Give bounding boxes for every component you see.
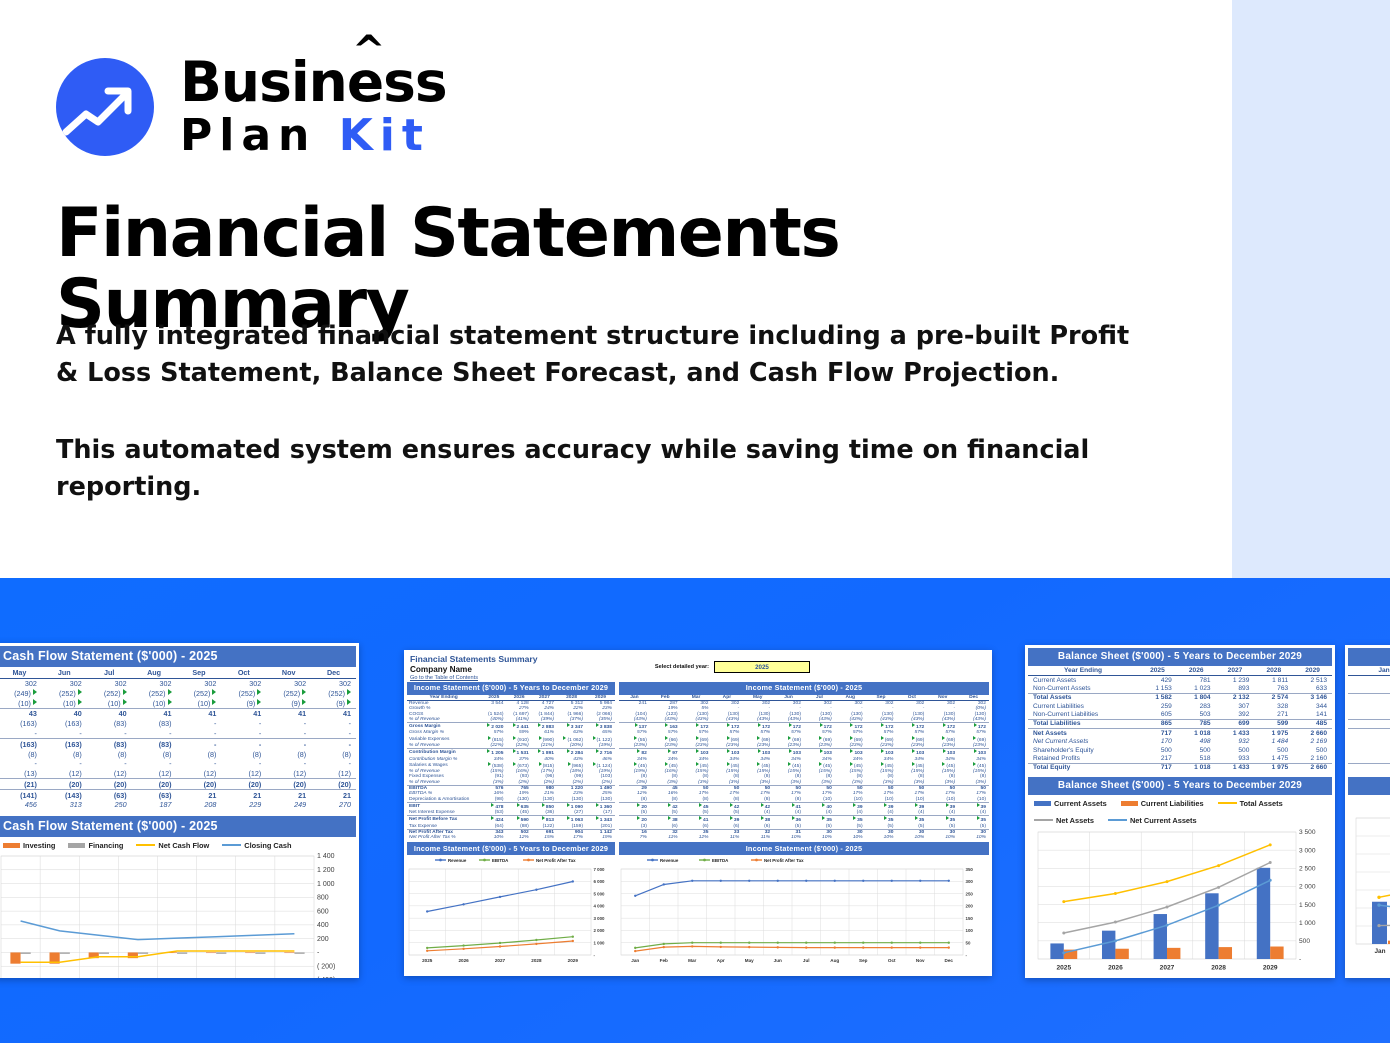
table-cell[interactable]: 10% — [958, 835, 989, 840]
table-cell[interactable]: 39 — [927, 802, 958, 810]
table-cell[interactable]: 512 — [1348, 763, 1390, 772]
table-row[interactable]: (163)(163)(83)(83)---- — [0, 719, 356, 729]
table-cell[interactable]: 500 — [1348, 746, 1390, 754]
table-cell[interactable]: (83) — [87, 739, 132, 749]
table-row[interactable]: 1 081 — [1348, 738, 1390, 746]
table-cell[interactable]: 2 132 — [1216, 693, 1255, 702]
table-cell[interactable]: 97 — [650, 749, 681, 757]
table-cell[interactable]: (20) — [266, 779, 311, 790]
table-cell[interactable]: (20) — [311, 779, 356, 790]
table-row[interactable]: Shareholder's Equity500500500500500 — [1028, 746, 1332, 754]
table-cell[interactable]: 1 023 — [1177, 684, 1216, 693]
table-cell[interactable]: 344 — [1293, 702, 1332, 710]
table-cell[interactable]: 82 — [619, 749, 650, 757]
table-cell[interactable]: (1 124) — [586, 762, 615, 769]
table-cell[interactable]: 599 — [1254, 719, 1293, 728]
table-row[interactable]: (10)(10)(10)(10)(10)(9)(9)(9) — [0, 698, 356, 708]
table-cell[interactable]: - — [42, 729, 87, 739]
table-cell[interactable]: (63) — [132, 790, 177, 800]
table-cell[interactable]: 35 — [866, 816, 897, 824]
table-cell[interactable]: - — [266, 729, 311, 739]
table-cell[interactable]: 20 — [619, 802, 650, 810]
table-cell[interactable]: 283 — [1177, 702, 1216, 710]
table-cell[interactable]: (45) — [866, 762, 897, 769]
table-cell[interactable]: - — [221, 729, 266, 739]
table-cell[interactable]: 141 — [1293, 710, 1332, 719]
table-cell[interactable]: 103 — [804, 749, 835, 757]
table-cell[interactable]: - — [221, 759, 266, 769]
table-cell[interactable]: (538) — [481, 762, 506, 769]
table-cell[interactable]: 21 — [177, 790, 222, 800]
table-cell[interactable]: 217 — [1138, 754, 1177, 763]
table-cell[interactable]: - — [311, 739, 356, 749]
table-cell[interactable]: (9) — [311, 698, 356, 708]
table-cell[interactable]: (8) — [177, 749, 222, 759]
table-cell[interactable]: 1 804 — [1177, 693, 1216, 702]
table-cell[interactable]: (815) — [481, 736, 506, 743]
table-cell[interactable]: (8) — [311, 749, 356, 759]
table-cell[interactable]: 103 — [835, 749, 866, 757]
income-statement-monthly-table[interactable]: JanFebMarAprMayJunJulAugSepOctNovDec2412… — [619, 695, 989, 841]
table-cell[interactable]: 3 146 — [1293, 693, 1332, 702]
table-cell[interactable]: 10% — [773, 835, 804, 840]
table-cell[interactable]: - — [266, 719, 311, 729]
table-cell[interactable]: (45) — [742, 762, 773, 769]
table-cell[interactable]: (83) — [87, 719, 132, 729]
table-cell[interactable]: 302 — [311, 678, 356, 688]
table-row[interactable]: Non-Current Liabilities605503392271141 — [1028, 710, 1332, 719]
table-row[interactable]: 93 — [1348, 702, 1390, 710]
table-row[interactable]: Net Current Assets1704989321 4842 169 — [1028, 738, 1332, 746]
table-cell[interactable]: (163) — [42, 739, 87, 749]
table-cell[interactable]: 865 — [1138, 719, 1177, 728]
year-picker-input[interactable]: 2025 — [714, 661, 810, 673]
table-row[interactable]: 1 174 — [1348, 675, 1390, 684]
table-row[interactable]: 8297103103103103103103103103103103 — [619, 749, 989, 757]
table-cell[interactable]: (12) — [311, 769, 356, 779]
table-cell[interactable]: 500 — [1293, 746, 1332, 754]
table-row[interactable]: -------- — [0, 729, 356, 739]
table-cell[interactable]: 302 — [177, 678, 222, 688]
table-cell[interactable]: 2 574 — [1254, 693, 1293, 702]
table-cell[interactable]: (69) — [927, 736, 958, 743]
table-cell[interactable]: 12 — [1348, 754, 1390, 763]
table-cell[interactable]: 1 582 — [1138, 693, 1177, 702]
table-cell[interactable]: 302 — [266, 678, 311, 688]
table-cell[interactable]: 10% — [835, 835, 866, 840]
table-cell[interactable]: (69) — [773, 736, 804, 743]
table-cell[interactable]: (13) — [0, 769, 42, 779]
table-row[interactable]: Non-Current Assets1 1531 023893763633 — [1028, 684, 1332, 693]
table-cell[interactable]: (45) — [619, 762, 650, 769]
table-cell[interactable]: - — [87, 729, 132, 739]
table-row[interactable]: 204245424241403939393939 — [619, 802, 989, 810]
table-cell[interactable]: (8) — [42, 749, 87, 759]
table-cell[interactable]: (163) — [42, 719, 87, 729]
table-cell[interactable]: (10) — [87, 698, 132, 708]
table-cell[interactable]: 42 — [650, 802, 681, 810]
table-cell[interactable]: (83) — [132, 739, 177, 749]
table-row[interactable]: 786 — [1348, 719, 1390, 728]
table-cell[interactable]: (10) — [177, 698, 222, 708]
table-row[interactable]: 692 — [1348, 710, 1390, 719]
table-cell[interactable]: 41 — [221, 709, 266, 719]
table-cell[interactable]: 39 — [835, 802, 866, 810]
table-cell[interactable]: 302 — [0, 678, 42, 688]
table-row[interactable]: 12 — [1348, 754, 1390, 763]
table-cell[interactable]: 785 — [1177, 719, 1216, 728]
balance-sheet-monthly-panel[interactable]: Jan1 1741241 297936927865121 08150012512… — [1345, 645, 1390, 978]
table-cell[interactable]: (45) — [804, 762, 835, 769]
table-cell[interactable]: 456 — [0, 800, 42, 810]
table-cell[interactable]: 41 — [132, 709, 177, 719]
table-cell[interactable]: 1 018 — [1177, 763, 1216, 772]
table-of-contents-link[interactable]: Go to the Table of Contents — [410, 675, 986, 681]
table-row[interactable]: Net Profit Before Tax4245908131 0631 343 — [407, 816, 615, 824]
table-cell[interactable]: 1 063 — [557, 816, 586, 824]
table-cell[interactable]: (163) — [0, 739, 42, 749]
table-cell[interactable]: (252) — [311, 688, 356, 698]
table-cell[interactable]: 271 — [1254, 710, 1293, 719]
table-cell[interactable]: 45 — [681, 802, 712, 810]
table-row[interactable]: 124 — [1348, 684, 1390, 693]
table-cell[interactable]: 11% — [650, 835, 681, 840]
table-cell[interactable]: 302 — [132, 678, 177, 688]
table-cell[interactable]: 20 — [619, 816, 650, 824]
table-cell[interactable]: 35 — [927, 816, 958, 824]
table-cell[interactable]: 485 — [1293, 719, 1332, 728]
table-cell[interactable]: 500 — [1138, 746, 1177, 754]
table-cell[interactable]: 35 — [896, 816, 927, 824]
table-row[interactable]: 500 — [1348, 746, 1390, 754]
table-cell[interactable]: 21 — [266, 790, 311, 800]
table-cell[interactable]: (1 122) — [586, 736, 615, 743]
table-cell[interactable]: - — [311, 759, 356, 769]
table-cell[interactable]: 2 660 — [1293, 729, 1332, 738]
table-cell[interactable]: 15% — [532, 835, 557, 840]
table-cell[interactable]: (45) — [681, 762, 712, 769]
table-cell[interactable]: 17% — [557, 835, 586, 840]
table-row[interactable]: Current Liabilities259283307328344 — [1028, 702, 1332, 710]
table-cell[interactable]: (10) — [0, 698, 42, 708]
table-cell[interactable]: 850 — [532, 802, 557, 810]
table-cell[interactable]: 41 — [177, 709, 222, 719]
table-cell[interactable]: 1 531 — [507, 749, 532, 757]
table-cell[interactable]: 500 — [1177, 746, 1216, 754]
table-row[interactable]: 512 — [1348, 763, 1390, 772]
table-cell[interactable]: 229 — [221, 800, 266, 810]
table-row[interactable]: -------- — [0, 759, 356, 769]
income-statement-5y-table[interactable]: Year Ending20252026202720282029Revenue3 … — [407, 695, 615, 841]
table-cell[interactable]: 633 — [1293, 684, 1332, 693]
table-row[interactable]: (55)(66)(69)(69)(69)(69)(69)(69)(69)(69)… — [619, 736, 989, 743]
table-cell[interactable]: (69) — [804, 736, 835, 743]
table-row[interactable]: Variable Expenses(815)(910)(990)(1 062)(… — [407, 736, 615, 743]
table-cell[interactable]: - — [177, 729, 222, 739]
table-cell[interactable]: (12) — [87, 769, 132, 779]
table-cell[interactable]: 39 — [958, 802, 989, 810]
table-cell[interactable]: 500 — [1254, 746, 1293, 754]
table-cell[interactable]: - — [132, 759, 177, 769]
table-cell[interactable]: 124 — [1348, 684, 1390, 693]
table-cell[interactable]: 43 — [0, 709, 42, 719]
table-cell[interactable]: (66) — [650, 736, 681, 743]
table-row[interactable]: 4340404141414141 — [0, 709, 356, 719]
table-cell[interactable]: - — [177, 719, 222, 729]
table-cell[interactable]: 1 174 — [1348, 675, 1390, 684]
table-row[interactable]: (13)(12)(12)(12)(12)(12)(12)(12) — [0, 769, 356, 779]
table-cell[interactable]: 781 — [1177, 675, 1216, 684]
table-cell[interactable]: (45) — [835, 762, 866, 769]
table-cell[interactable]: (63) — [87, 790, 132, 800]
table-row[interactable]: Total Assets1 5821 8042 1322 5743 146 — [1028, 693, 1332, 702]
table-row[interactable]: (249)(252)(252)(252)(252)(252)(252)(252) — [0, 688, 356, 698]
financial-summary-panel[interactable]: Financial Statements Summary Company Nam… — [404, 650, 992, 976]
table-cell[interactable]: (20) — [177, 779, 222, 790]
table-cell[interactable]: - — [0, 759, 42, 769]
table-cell[interactable]: 249 — [266, 800, 311, 810]
table-cell[interactable]: - — [0, 729, 42, 739]
table-cell[interactable]: - — [87, 759, 132, 769]
table-cell[interactable]: 813 — [532, 816, 557, 824]
table-cell[interactable]: 2 169 — [1293, 738, 1332, 746]
table-cell[interactable]: 429 — [1138, 675, 1177, 684]
table-cell[interactable]: (20) — [42, 779, 87, 790]
table-cell[interactable]: 103 — [773, 749, 804, 757]
table-cell[interactable]: 313 — [42, 800, 87, 810]
table-cell[interactable]: 512 — [1348, 729, 1390, 738]
table-cell[interactable]: 328 — [1254, 702, 1293, 710]
table-cell[interactable]: 424 — [481, 816, 506, 824]
edge-panel-table[interactable]: Jan1 1741241 297936927865121 08150012512 — [1348, 667, 1390, 773]
table-cell[interactable]: 1 433 — [1216, 729, 1255, 738]
balance-sheet-table[interactable]: Year Ending20252026202720282029Current A… — [1028, 667, 1332, 773]
table-cell[interactable]: 893 — [1216, 684, 1255, 693]
table-row[interactable]: (8)(8)(8)(8)(8)(8)(8)(8) — [0, 749, 356, 759]
table-cell[interactable]: 1 975 — [1254, 763, 1293, 772]
table-cell[interactable]: 302 — [42, 678, 87, 688]
table-cell[interactable]: (8) — [266, 749, 311, 759]
balance-sheet-panel[interactable]: Balance Sheet ($'000) - 5 Years to Decem… — [1025, 645, 1335, 978]
year-picker[interactable]: Select detailed year: 2025 — [655, 661, 810, 673]
table-row[interactable]: Current Assets4297811 2391 8112 513 — [1028, 675, 1332, 684]
table-cell[interactable]: (12) — [177, 769, 222, 779]
table-cell[interactable]: 590 — [507, 816, 532, 824]
table-cell[interactable]: (12) — [221, 769, 266, 779]
table-cell[interactable]: (21) — [0, 779, 42, 790]
table-cell[interactable]: (10) — [132, 698, 177, 708]
table-cell[interactable]: (45) — [711, 762, 742, 769]
table-cell[interactable]: (910) — [507, 736, 532, 743]
table-cell[interactable]: (252) — [42, 688, 87, 698]
table-cell[interactable]: 1 297 — [1348, 693, 1390, 702]
table-cell[interactable]: (55) — [619, 736, 650, 743]
table-cell[interactable]: 21 — [221, 790, 266, 800]
table-cell[interactable]: (69) — [711, 736, 742, 743]
table-cell[interactable]: (20) — [132, 779, 177, 790]
table-cell[interactable]: (20) — [87, 779, 132, 790]
table-cell[interactable]: (249) — [0, 688, 42, 698]
table-cell[interactable]: (1 062) — [557, 736, 586, 743]
table-cell[interactable]: (8) — [132, 749, 177, 759]
table-cell[interactable]: 42 — [742, 802, 773, 810]
table-cell[interactable]: 635 — [507, 802, 532, 810]
table-cell[interactable]: 763 — [1254, 684, 1293, 693]
table-cell[interactable]: 40 — [42, 709, 87, 719]
table-cell[interactable]: 103 — [711, 749, 742, 757]
table-cell[interactable]: 39 — [866, 802, 897, 810]
table-cell[interactable]: 7% — [619, 835, 650, 840]
table-cell[interactable]: 307 — [1216, 702, 1255, 710]
table-cell[interactable]: 39 — [896, 802, 927, 810]
table-cell[interactable]: (990) — [532, 736, 557, 743]
table-cell[interactable]: 717 — [1138, 729, 1177, 738]
table-cell[interactable]: 302 — [221, 678, 266, 688]
table-cell[interactable]: 35 — [958, 816, 989, 824]
table-cell[interactable]: 41 — [681, 816, 712, 824]
table-cell[interactable]: 2 513 — [1293, 675, 1332, 684]
table-cell[interactable]: 2 716 — [586, 749, 615, 757]
table-cell[interactable]: 498 — [1177, 738, 1216, 746]
table-cell[interactable]: - — [221, 719, 266, 729]
table-cell[interactable]: 932 — [1216, 738, 1255, 746]
table-cell[interactable]: 41 — [773, 802, 804, 810]
table-cell[interactable]: 270 — [311, 800, 356, 810]
table-cell[interactable]: (252) — [266, 688, 311, 698]
table-cell[interactable]: 38 — [650, 816, 681, 824]
table-cell[interactable]: (20) — [221, 779, 266, 790]
table-cell[interactable]: 103 — [681, 749, 712, 757]
table-cell[interactable]: (69) — [958, 736, 989, 743]
table-cell[interactable]: 12% — [507, 835, 532, 840]
table-cell[interactable]: 36 — [773, 816, 804, 824]
table-cell[interactable]: (8) — [0, 749, 42, 759]
table-cell[interactable]: 1 475 — [1254, 754, 1293, 763]
table-cell[interactable]: 1 811 — [1254, 675, 1293, 684]
table-cell[interactable]: (45) — [773, 762, 804, 769]
table-cell[interactable]: 1 081 — [1348, 738, 1390, 746]
table-cell[interactable]: 392 — [1216, 710, 1255, 719]
table-cell[interactable]: - — [266, 759, 311, 769]
table-row[interactable]: Total Equity7171 0181 4331 9752 660 — [1028, 763, 1332, 772]
table-cell[interactable]: (45) — [958, 762, 989, 769]
table-cell[interactable]: - — [221, 739, 266, 749]
table-cell[interactable]: (8) — [87, 749, 132, 759]
table-cell[interactable]: 1 239 — [1216, 675, 1255, 684]
table-cell[interactable]: - — [132, 729, 177, 739]
table-cell[interactable]: 1 360 — [586, 802, 615, 810]
table-cell[interactable]: (163) — [0, 719, 42, 729]
table-cell[interactable]: 208 — [177, 800, 222, 810]
table-cell[interactable]: 1 205 — [481, 749, 506, 757]
table-cell[interactable]: (252) — [132, 688, 177, 698]
table-cell[interactable]: (9) — [266, 698, 311, 708]
table-cell[interactable]: 39 — [711, 816, 742, 824]
table-cell[interactable]: 1 343 — [586, 816, 615, 824]
table-cell[interactable]: (9) — [221, 698, 266, 708]
table-cell[interactable]: 1 018 — [1177, 729, 1216, 738]
table-cell[interactable]: 12% — [681, 835, 712, 840]
table-cell[interactable]: 2 284 — [557, 749, 586, 757]
table-row[interactable]: Salaries & Wages(538)(673)(815)(965)(1 1… — [407, 762, 615, 769]
table-cell[interactable]: 19% — [586, 835, 615, 840]
table-cell[interactable]: 302 — [87, 678, 132, 688]
table-cell[interactable]: (69) — [742, 736, 773, 743]
table-cell[interactable]: 38 — [742, 816, 773, 824]
table-row[interactable]: EBIT4786358501 0901 360 — [407, 802, 615, 810]
table-cell[interactable]: 10% — [896, 835, 927, 840]
table-cell[interactable]: 40 — [804, 802, 835, 810]
table-cell[interactable]: 717 — [1138, 763, 1177, 772]
table-cell[interactable]: - — [311, 729, 356, 739]
table-cell[interactable]: (69) — [866, 736, 897, 743]
table-cell[interactable]: 692 — [1348, 710, 1390, 719]
table-row[interactable]: 512 — [1348, 729, 1390, 738]
table-cell[interactable]: 41 — [311, 709, 356, 719]
table-cell[interactable]: 1 153 — [1138, 684, 1177, 693]
table-cell[interactable]: 2 160 — [1293, 754, 1332, 763]
table-cell[interactable]: (45) — [927, 762, 958, 769]
table-cell[interactable]: 250 — [87, 800, 132, 810]
table-row[interactable]: (21)(20)(20)(20)(20)(20)(20)(20) — [0, 779, 356, 790]
table-cell[interactable]: 500 — [1216, 746, 1255, 754]
cash-flow-panel[interactable]: Cash Flow Statement ($'000) - 2025 MayJu… — [0, 643, 359, 978]
table-cell[interactable]: 41 — [266, 709, 311, 719]
table-cell[interactable]: 10% — [866, 835, 897, 840]
table-cell[interactable]: - — [311, 719, 356, 729]
table-cell[interactable]: (815) — [532, 762, 557, 769]
table-cell[interactable]: 103 — [742, 749, 773, 757]
table-cell[interactable]: 518 — [1177, 754, 1216, 763]
table-cell[interactable]: (69) — [681, 736, 712, 743]
table-row[interactable]: (45)(45)(45)(45)(45)(45)(45)(45)(45)(45)… — [619, 762, 989, 769]
table-cell[interactable]: 2 660 — [1293, 763, 1332, 772]
table-row[interactable]: Total Liabilities865785699599485 — [1028, 719, 1332, 728]
table-cell[interactable]: (69) — [835, 736, 866, 743]
table-cell[interactable]: 10% — [481, 835, 506, 840]
table-cell[interactable]: - — [266, 739, 311, 749]
table-cell[interactable]: (83) — [132, 719, 177, 729]
table-cell[interactable]: (965) — [557, 762, 586, 769]
table-cell[interactable]: (69) — [896, 736, 927, 743]
table-cell[interactable]: 259 — [1138, 702, 1177, 710]
table-cell[interactable]: 1 484 — [1254, 738, 1293, 746]
table-row[interactable]: 1 297 — [1348, 693, 1390, 702]
table-cell[interactable]: 605 — [1138, 710, 1177, 719]
table-cell[interactable]: 699 — [1216, 719, 1255, 728]
table-cell[interactable]: (252) — [177, 688, 222, 698]
table-cell[interactable]: 35 — [804, 816, 835, 824]
table-cell[interactable]: (252) — [221, 688, 266, 698]
table-cell[interactable]: 1 433 — [1216, 763, 1255, 772]
table-cell[interactable]: (45) — [650, 762, 681, 769]
table-cell[interactable]: - — [177, 759, 222, 769]
table-cell[interactable]: 187 — [132, 800, 177, 810]
table-row[interactable]: Contribution Margin1 2051 5311 8912 2842… — [407, 749, 615, 757]
table-row[interactable]: 7%11%12%11%11%10%10%10%10%10%10%10% — [619, 835, 989, 840]
table-cell[interactable]: 103 — [927, 749, 958, 757]
cash-flow-table[interactable]: MayJunJulAugSepOctNovDec3023023023023023… — [0, 668, 356, 810]
table-row[interactable]: 203841393836353535353535 — [619, 816, 989, 824]
table-cell[interactable]: 11% — [711, 835, 742, 840]
table-row[interactable]: 302302302302302302302302 — [0, 678, 356, 688]
table-cell[interactable]: 10% — [927, 835, 958, 840]
table-row[interactable]: (163)(163)(83)(83)---- — [0, 739, 356, 749]
table-cell[interactable]: 478 — [481, 802, 506, 810]
table-cell[interactable]: (141) — [0, 790, 42, 800]
table-cell[interactable]: (45) — [896, 762, 927, 769]
table-cell[interactable]: 10% — [804, 835, 835, 840]
